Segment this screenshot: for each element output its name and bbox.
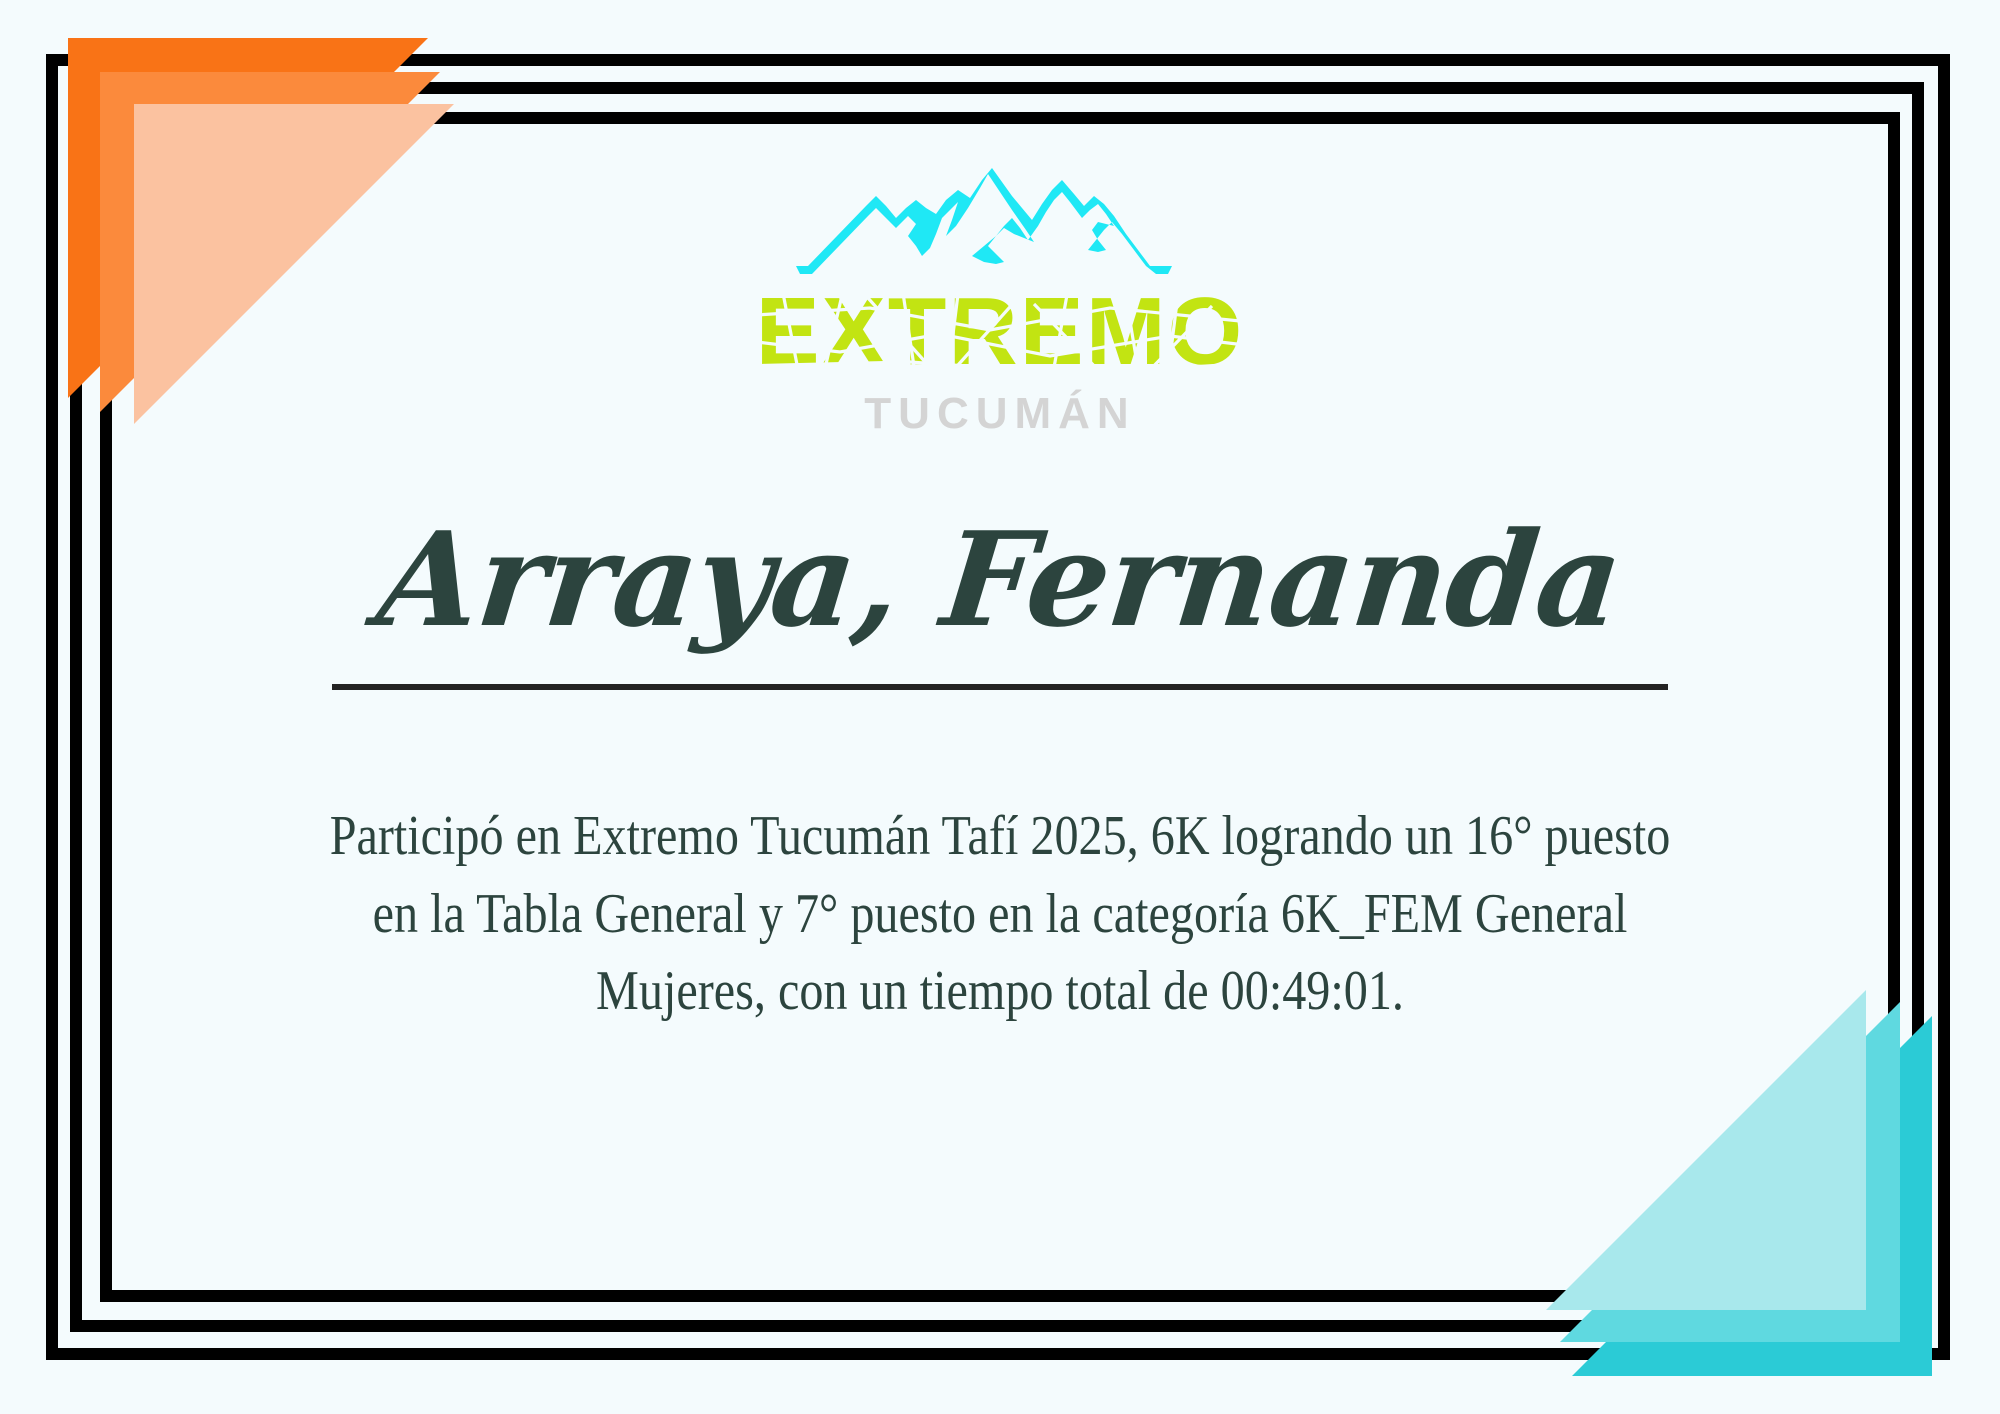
frame-outer-right xyxy=(1938,54,1950,1360)
certificate-content: EXTREMO xyxy=(112,124,1888,1290)
certificate-page: EXTREMO xyxy=(0,0,2000,1414)
achievement-text: Participó en Extremo Tucumán Tafí 2025, … xyxy=(295,798,1705,1030)
name-divider xyxy=(332,684,1668,690)
achievement-line-1: Participó en Extremo Tucumán Tafí 2025, … xyxy=(295,798,1705,875)
logo-subtitle: TUCUMÁN xyxy=(864,392,1135,436)
achievement-line-3: Mujeres, con un tiempo total de 00:49:01… xyxy=(295,953,1705,1030)
achievement-line-2: en la Tabla General y 7° puesto en la ca… xyxy=(295,876,1705,953)
extremo-wordmark: EXTREMO xyxy=(750,278,1250,390)
mountain-range-icon xyxy=(790,164,1210,284)
frame-outer-left xyxy=(46,54,58,1360)
event-logo: EXTREMO xyxy=(720,164,1280,436)
recipient-name: Arraya, Fernanda xyxy=(372,510,1628,650)
